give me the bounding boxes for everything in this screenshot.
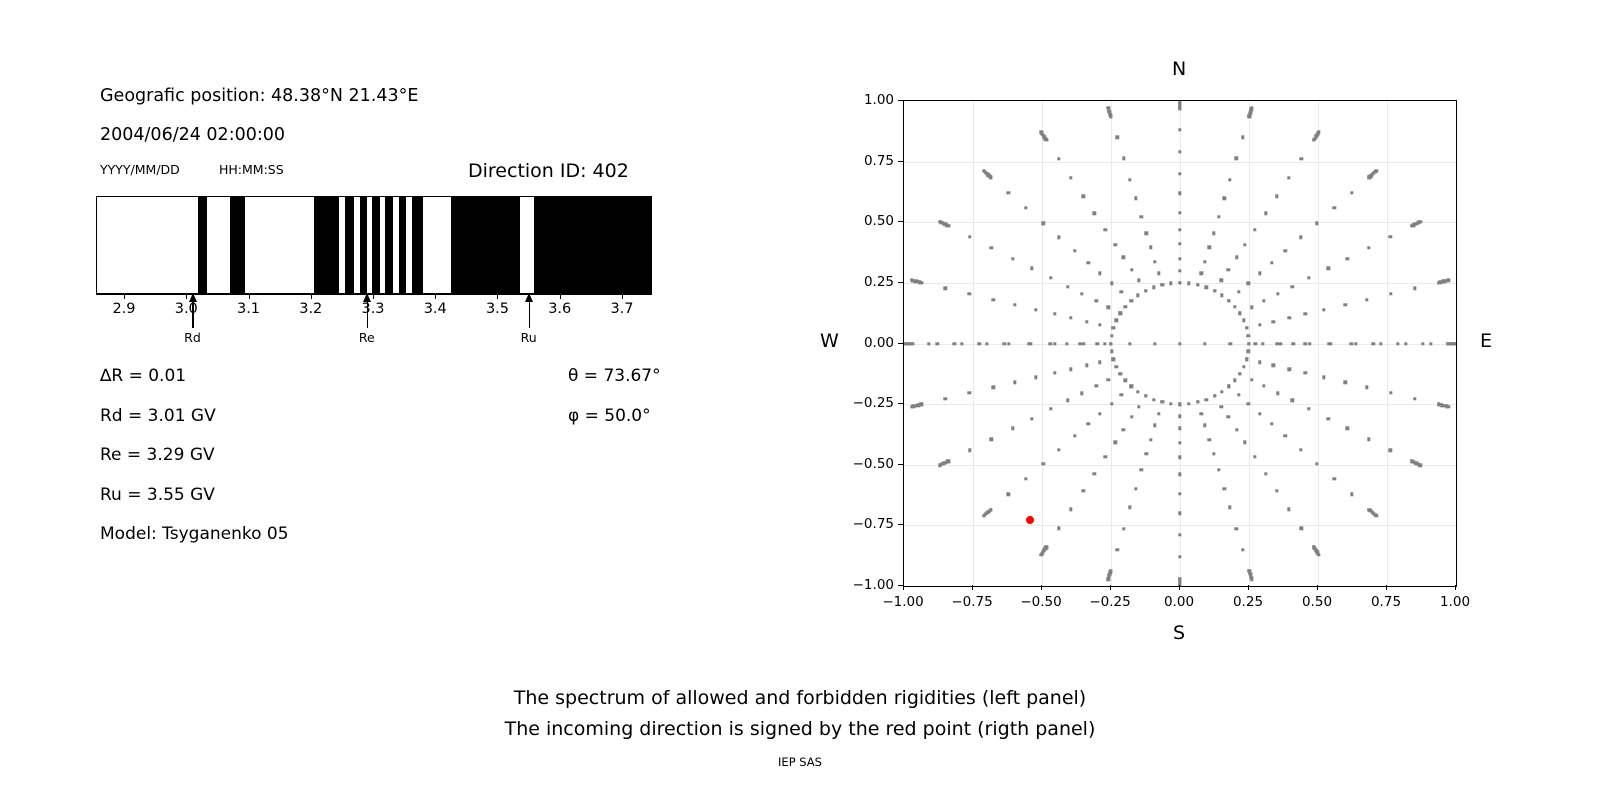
direction-dot xyxy=(989,246,992,249)
axis-tick-label: −0.75 xyxy=(951,594,992,610)
direction-dot xyxy=(1119,311,1122,314)
axis-tick-label: 0.25 xyxy=(1233,594,1263,610)
direction-dot xyxy=(1237,290,1240,293)
direction-dot xyxy=(1057,448,1060,451)
direction-dot xyxy=(1262,384,1265,387)
marker-label: Rd xyxy=(184,330,201,345)
direction-dot xyxy=(1130,415,1133,418)
caption-line-2: The incoming direction is signed by the … xyxy=(0,714,1600,745)
axis-tick-label: 2.9 xyxy=(112,301,135,317)
direction-dot xyxy=(1069,176,1072,179)
direction-dot xyxy=(1149,246,1152,249)
direction-dot xyxy=(1284,434,1287,437)
forbidden-band xyxy=(360,197,367,293)
direction-dot xyxy=(1250,305,1253,308)
axis-tick xyxy=(124,294,125,299)
direction-dot xyxy=(1275,195,1278,198)
direction-dot xyxy=(1153,342,1156,345)
direction-dot xyxy=(1212,452,1215,455)
direction-dot xyxy=(1187,282,1190,285)
direction-dot xyxy=(1245,326,1248,329)
axis-tick xyxy=(249,294,250,299)
direction-dot xyxy=(1178,269,1181,272)
time-format-hint: HH:MM:SS xyxy=(219,162,284,177)
direction-dot xyxy=(1270,261,1273,264)
direction-dot xyxy=(927,342,930,345)
direction-dot xyxy=(1213,394,1216,397)
marker-label: Re xyxy=(359,330,375,345)
direction-dot xyxy=(1130,268,1133,271)
direction-dot xyxy=(1128,178,1131,181)
direction-dot xyxy=(1093,212,1096,215)
direction-dot xyxy=(1326,417,1329,420)
direction-dot xyxy=(1203,424,1206,427)
direction-dot xyxy=(1030,417,1033,420)
direction-dot xyxy=(1144,394,1147,397)
direction-dot xyxy=(1160,400,1163,403)
direction-dot xyxy=(1307,276,1310,279)
axis-tick-label: −1.00 xyxy=(853,577,894,593)
direction-dot xyxy=(1404,342,1407,345)
direction-dot xyxy=(1242,365,1245,368)
direction-dot xyxy=(968,448,971,451)
axis-tick xyxy=(622,294,623,299)
direction-dot xyxy=(1203,260,1206,263)
direction-dot xyxy=(1082,195,1085,198)
direction-dot xyxy=(1178,533,1181,536)
direction-dot xyxy=(1258,412,1261,415)
direction-dot xyxy=(1329,342,1332,345)
direction-dot xyxy=(1178,100,1181,103)
direction-dot xyxy=(1276,392,1279,395)
axis-tick xyxy=(1386,585,1387,590)
direction-dot xyxy=(1112,326,1115,329)
gridline xyxy=(904,525,1456,526)
direction-dot xyxy=(1262,299,1265,302)
direction-dot xyxy=(1098,271,1101,274)
direction-dot xyxy=(1344,303,1347,306)
direction-dot xyxy=(1107,305,1110,308)
direction-dot xyxy=(1203,342,1206,345)
direction-dot xyxy=(1095,384,1098,387)
axis-tick-label: 0.50 xyxy=(864,213,894,229)
parameter-value: φ = 50.0° xyxy=(568,406,651,426)
direction-dot xyxy=(1120,393,1123,396)
direction-dot xyxy=(1250,577,1253,580)
forbidden-band xyxy=(534,197,651,293)
direction-dot xyxy=(1065,342,1068,345)
direction-dot xyxy=(1128,506,1131,509)
direction-dot xyxy=(1178,492,1181,495)
direction-dot xyxy=(1346,427,1349,430)
direction-dot xyxy=(1087,422,1090,425)
axis-tick-label: 0.25 xyxy=(864,274,894,290)
figure-caption: The spectrum of allowed and forbidden ri… xyxy=(0,683,1600,745)
direction-dot xyxy=(1253,228,1256,231)
direction-dot xyxy=(1069,316,1072,319)
direction-dot xyxy=(1134,487,1137,490)
direction-dot xyxy=(1030,267,1033,270)
direction-dot xyxy=(1344,381,1347,384)
parameter-value: Model: Tsyganenko 05 xyxy=(100,524,289,544)
parameter-value: Re = 3.29 GV xyxy=(100,445,215,465)
direction-dot xyxy=(1034,308,1037,311)
direction-dot xyxy=(1057,235,1060,238)
direction-dot xyxy=(1073,249,1076,252)
axis-tick-label: 3.3 xyxy=(361,301,384,317)
forbidden-band xyxy=(451,197,519,293)
direction-dot xyxy=(1365,386,1368,389)
parameter-value: ∆R = 0.01 xyxy=(100,366,186,386)
direction-dot xyxy=(1140,468,1143,471)
direction-dot xyxy=(1228,178,1231,181)
direction-dot xyxy=(1144,289,1147,292)
direction-dot xyxy=(968,235,971,238)
direction-dot xyxy=(1247,402,1250,405)
direction-dot xyxy=(1057,527,1060,530)
direction-dot xyxy=(1078,342,1081,345)
direction-dot xyxy=(1178,211,1181,214)
direction-dot xyxy=(1250,378,1253,381)
direction-dot xyxy=(1178,427,1181,430)
direction-dot xyxy=(1237,393,1240,396)
direction-dot xyxy=(1178,172,1181,175)
direction-dot xyxy=(1287,176,1290,179)
direction-dot xyxy=(1375,514,1378,517)
axis-tick xyxy=(898,282,903,283)
direction-dot xyxy=(1304,342,1307,345)
direction-dot xyxy=(1187,402,1190,405)
direction-dot xyxy=(1007,493,1010,496)
direction-dot xyxy=(1200,412,1203,415)
axis-tick xyxy=(972,585,973,590)
direction-dot xyxy=(1178,512,1181,515)
direction-dot xyxy=(1157,412,1160,415)
direction-dot xyxy=(1245,357,1248,360)
direction-dot xyxy=(1069,368,1072,371)
direction-dot xyxy=(1389,391,1392,394)
direction-dot xyxy=(1332,206,1335,209)
axis-tick-label: −0.25 xyxy=(1089,594,1130,610)
direction-dot xyxy=(1350,191,1353,194)
direction-dot xyxy=(1389,448,1392,451)
direction-dot xyxy=(1223,197,1226,200)
direction-dot xyxy=(1124,379,1127,382)
direction-dot xyxy=(1291,342,1294,345)
axis-tick-label: −1.00 xyxy=(882,594,923,610)
direction-dot xyxy=(1160,283,1163,286)
direction-dot xyxy=(982,514,985,517)
direction-dot xyxy=(1104,228,1107,231)
direction-dot xyxy=(1304,312,1307,315)
direction-dot xyxy=(1365,298,1368,301)
parameter-value: θ = 73.67° xyxy=(568,366,661,386)
direction-dot xyxy=(1235,428,1238,431)
axis-tick xyxy=(898,464,903,465)
direction-dot xyxy=(1288,316,1291,319)
direction-dot xyxy=(1243,243,1246,246)
direction-dot xyxy=(1322,308,1325,311)
axis-tick-label: 3.2 xyxy=(299,301,322,317)
direction-dot xyxy=(1122,256,1125,259)
direction-dot xyxy=(1272,364,1275,367)
direction-dot xyxy=(1258,271,1261,274)
direction-dot xyxy=(1446,279,1449,282)
direction-dot xyxy=(1270,422,1273,425)
direction-dot xyxy=(1247,334,1250,337)
axis-tick xyxy=(560,294,561,299)
direction-dot xyxy=(1287,508,1290,511)
direction-dot xyxy=(1446,405,1449,408)
direction-dot xyxy=(1136,294,1139,297)
spectrum-bar xyxy=(96,196,652,294)
axis-tick-label: 1.00 xyxy=(864,92,894,108)
direction-dot xyxy=(1235,256,1238,259)
direction-dot xyxy=(1113,243,1116,246)
direction-dot xyxy=(1396,342,1399,345)
direction-dot xyxy=(1082,342,1085,345)
direction-dot xyxy=(1205,286,1208,289)
direction-dot xyxy=(1228,506,1231,509)
direction-dot xyxy=(989,438,992,441)
direction-dot xyxy=(1276,292,1279,295)
forbidden-band xyxy=(230,197,245,293)
direction-dot xyxy=(1134,197,1137,200)
direction-dot xyxy=(1107,378,1110,381)
direction-dot xyxy=(1413,397,1416,400)
direction-dot xyxy=(1115,548,1118,551)
direction-dot xyxy=(944,287,947,290)
direction-dot xyxy=(1115,319,1118,322)
direction-dot xyxy=(1307,407,1310,410)
direction-dot xyxy=(1389,235,1392,238)
direction-dot xyxy=(910,405,913,408)
direction-dot xyxy=(1178,191,1181,194)
axis-tick-label: −0.25 xyxy=(853,395,894,411)
direction-dot xyxy=(1066,399,1069,402)
direction-dot xyxy=(1208,246,1211,249)
polar-scatter-plot xyxy=(903,100,1457,587)
direction-dot xyxy=(1110,334,1113,337)
axis-tick-label: 3.5 xyxy=(486,301,509,317)
direction-dot xyxy=(1367,438,1370,441)
direction-dot xyxy=(1110,282,1113,285)
direction-dot xyxy=(1130,299,1133,302)
direction-dot xyxy=(1039,553,1042,556)
direction-dot xyxy=(1349,342,1352,345)
direction-dot xyxy=(1093,472,1096,475)
axis-line xyxy=(96,294,652,295)
direction-dot xyxy=(1028,342,1031,345)
direction-dot xyxy=(1007,191,1010,194)
direction-dot xyxy=(1227,299,1230,302)
direction-dot xyxy=(968,391,971,394)
direction-dot xyxy=(1178,456,1181,459)
direction-dot xyxy=(1049,407,1052,410)
direction-dot xyxy=(1413,287,1416,290)
axis-tick-label: 3.1 xyxy=(237,301,260,317)
direction-dot xyxy=(1258,361,1261,364)
direction-dot xyxy=(1066,285,1069,288)
direction-dot xyxy=(1178,257,1181,260)
direction-dot xyxy=(1098,412,1101,415)
direction-dot xyxy=(1011,257,1014,260)
axis-tick xyxy=(898,403,903,404)
direction-dot xyxy=(1220,294,1223,297)
forbidden-band xyxy=(412,197,423,293)
direction-dot xyxy=(1205,398,1208,401)
direction-dot xyxy=(1346,257,1349,260)
direction-dot xyxy=(1080,392,1083,395)
direction-dot xyxy=(1196,283,1199,286)
compass-west-label: W xyxy=(820,330,839,352)
geographic-position-label: Geografic position: 48.38°N 21.43°E xyxy=(100,86,418,106)
parameter-value: Ru = 3.55 GV xyxy=(100,485,215,505)
direction-dot xyxy=(1145,232,1148,235)
direction-dot xyxy=(1241,136,1244,139)
direction-dot xyxy=(1169,282,1172,285)
direction-dot xyxy=(1112,357,1115,360)
direction-dot xyxy=(1013,381,1016,384)
direction-dot xyxy=(1261,342,1264,345)
direction-dot xyxy=(1140,215,1143,218)
direction-dot xyxy=(1003,342,1006,345)
direction-dot xyxy=(1178,128,1181,131)
direction-dot xyxy=(1291,399,1294,402)
direction-dot xyxy=(1322,376,1325,379)
axis-tick xyxy=(497,294,498,299)
rigidity-spectrum-panel: Geografic position: 48.38°N 21.43°E 2004… xyxy=(0,0,760,660)
parameter-value: Rd = 3.01 GV xyxy=(100,406,216,426)
direction-dot xyxy=(1153,424,1156,427)
direction-dot xyxy=(1200,272,1203,275)
direction-dot xyxy=(1082,489,1085,492)
date-format-hint: YYYY/MM/DD xyxy=(100,162,180,177)
direction-dot xyxy=(1119,372,1122,375)
footer-credit: IEP SAS xyxy=(0,755,1600,769)
direction-dot xyxy=(1049,276,1052,279)
datetime-label: 2004/06/24 02:00:00 xyxy=(100,125,285,145)
caption-line-1: The spectrum of allowed and forbidden ri… xyxy=(0,683,1600,714)
direction-dot xyxy=(935,342,938,345)
direction-dot xyxy=(1317,553,1320,556)
direction-dot xyxy=(1178,415,1181,418)
direction-dot xyxy=(1279,342,1282,345)
direction-dot xyxy=(968,292,971,295)
direction-dot xyxy=(1300,157,1303,160)
incoming-direction-panel: N S E W −1.00−0.75−0.50−0.250.000.250.50… xyxy=(820,40,1520,650)
direction-dot xyxy=(1247,282,1250,285)
direction-dot xyxy=(1354,342,1357,345)
direction-dot xyxy=(1042,222,1045,225)
axis-tick xyxy=(1455,585,1456,590)
direction-dot xyxy=(1098,323,1101,326)
direction-dot xyxy=(1350,493,1353,496)
direction-dot xyxy=(938,464,941,467)
direction-dot xyxy=(1110,350,1113,353)
direction-dot xyxy=(1137,279,1140,282)
axis-tick-label: 3.0 xyxy=(175,301,198,317)
axis-tick-label: −0.50 xyxy=(1020,594,1061,610)
direction-id-label: Direction ID: 402 xyxy=(468,160,629,182)
direction-dot xyxy=(1326,267,1329,270)
direction-dot xyxy=(1332,477,1335,480)
direction-dot xyxy=(1299,235,1302,238)
direction-dot xyxy=(1130,385,1133,388)
direction-dot xyxy=(992,298,995,301)
direction-dot xyxy=(1250,106,1253,109)
direction-dot xyxy=(1178,473,1181,476)
arrow-up-icon xyxy=(363,293,371,302)
direction-dot xyxy=(1421,342,1424,345)
direction-dot xyxy=(1039,131,1042,134)
axis-tick xyxy=(186,294,187,299)
axis-tick xyxy=(1041,585,1042,590)
spectrum-axis: 2.93.03.13.23.33.43.53.63.7RdReRu xyxy=(96,294,652,352)
direction-dot xyxy=(1288,368,1291,371)
direction-dot xyxy=(1429,342,1432,345)
compass-north-label: N xyxy=(1172,58,1186,80)
compass-south-label: S xyxy=(1173,622,1185,644)
direction-dot xyxy=(1169,402,1172,405)
direction-dot xyxy=(1153,260,1156,263)
marker-label: Ru xyxy=(521,330,537,345)
axis-tick-label: 3.6 xyxy=(548,301,571,317)
direction-dot xyxy=(1220,405,1223,408)
direction-dot xyxy=(1013,303,1016,306)
direction-dot xyxy=(1073,434,1076,437)
direction-dot xyxy=(1098,361,1101,364)
direction-dot xyxy=(1178,242,1181,245)
direction-dot xyxy=(1128,342,1131,345)
direction-dot xyxy=(1208,438,1211,441)
direction-dot xyxy=(910,279,913,282)
axis-tick-label: 1.00 xyxy=(1440,594,1470,610)
compass-east-label: E xyxy=(1480,330,1492,352)
axis-tick xyxy=(898,524,903,525)
axis-tick-label: 0.00 xyxy=(864,335,894,351)
direction-dot xyxy=(1227,415,1230,418)
direction-dot xyxy=(1178,228,1181,231)
direction-dot xyxy=(1264,212,1267,215)
direction-dot xyxy=(1113,441,1116,444)
direction-dot xyxy=(985,342,988,345)
direction-dot xyxy=(1106,577,1109,580)
direction-dot xyxy=(1178,150,1181,153)
direction-dot xyxy=(1007,342,1010,345)
direction-dot xyxy=(1080,292,1083,295)
forbidden-band xyxy=(198,197,207,293)
axis-tick xyxy=(1248,585,1249,590)
axis-tick xyxy=(1179,585,1180,590)
direction-dot xyxy=(982,169,985,172)
direction-dot xyxy=(1115,136,1118,139)
direction-dot xyxy=(1272,320,1275,323)
direction-dot xyxy=(903,342,906,345)
direction-dot xyxy=(1110,402,1113,405)
direction-dot xyxy=(1024,477,1027,480)
axis-tick xyxy=(903,585,904,590)
direction-dot xyxy=(1069,508,1072,511)
direction-dot xyxy=(1053,342,1056,345)
direction-dot xyxy=(1109,342,1112,345)
direction-dot xyxy=(1217,215,1220,218)
direction-dot xyxy=(1284,249,1287,252)
axis-tick xyxy=(435,294,436,299)
direction-dot xyxy=(1024,206,1027,209)
axis-tick-label: 0.75 xyxy=(864,153,894,169)
direction-dot xyxy=(1152,286,1155,289)
